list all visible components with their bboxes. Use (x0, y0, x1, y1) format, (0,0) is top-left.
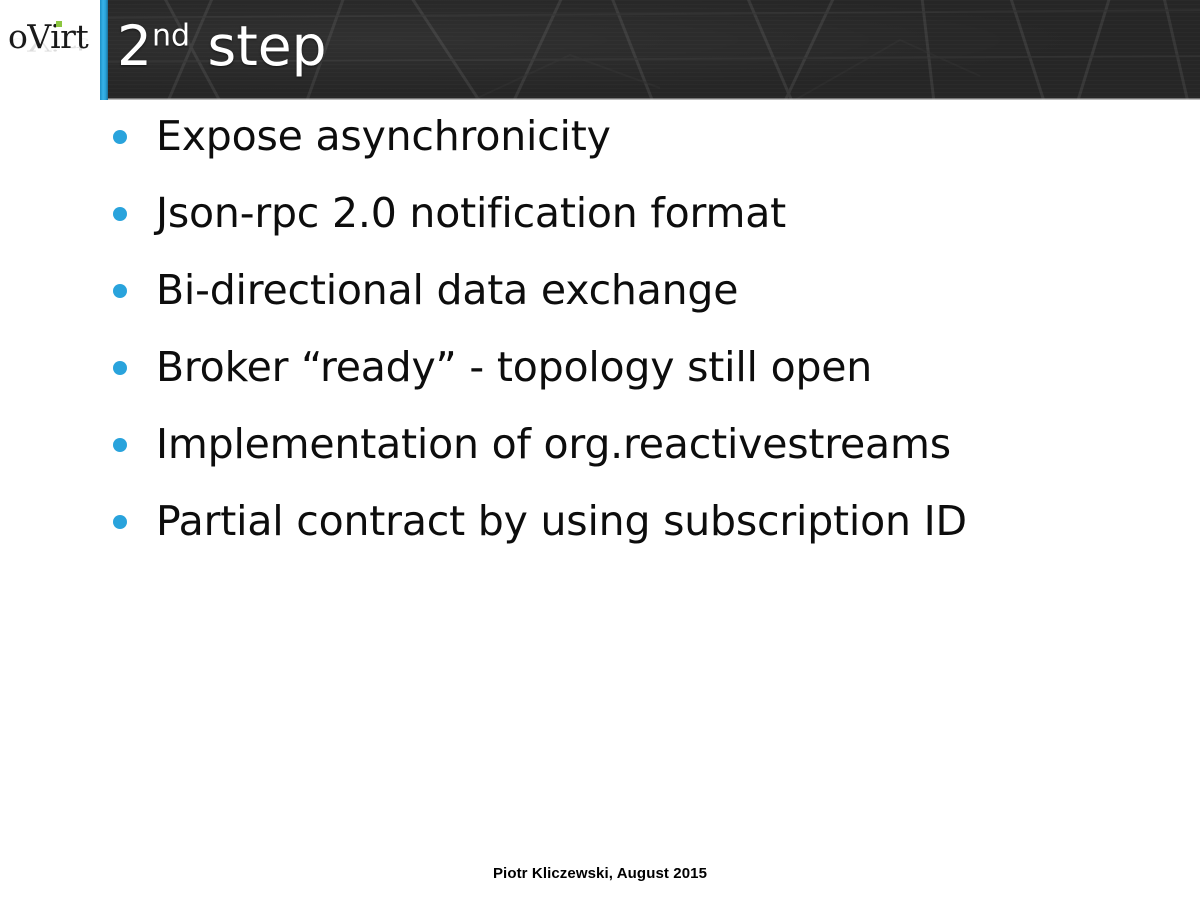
list-item: Expose asynchronicity (113, 108, 1183, 185)
bullet-text: Partial contract by using subscription I… (156, 493, 1183, 549)
slide-title-rest: step (190, 14, 326, 78)
bullet-text: Bi-directional data exchange (156, 262, 1183, 318)
header-accent-bar (100, 0, 108, 100)
bullet-text: Json-rpc 2.0 notification format (156, 185, 1183, 241)
list-item: Bi-directional data exchange (113, 262, 1183, 339)
bullet-dot-icon (113, 361, 127, 375)
bullet-dot-icon (113, 284, 127, 298)
ovirt-logo-reflection: oVirt (8, 34, 88, 55)
bullet-dot-icon (113, 207, 127, 221)
bullet-dot-icon (113, 438, 127, 452)
slide-title-number: 2 (117, 14, 152, 78)
ovirt-logo: oVirt oVirt (8, 18, 96, 88)
list-item: Implementation of org.reactivestreams (113, 416, 1183, 493)
list-item: Json-rpc 2.0 notification format (113, 185, 1183, 262)
bullet-dot-icon (113, 515, 127, 529)
slide-footer: Piotr Kliczewski, August 2015 (0, 865, 1200, 882)
slide-title-ordinal-suffix: nd (152, 19, 190, 54)
bullet-dot-icon (113, 130, 127, 144)
bullet-text: Broker “ready” - topology still open (156, 339, 1183, 395)
header-bottom-edge (100, 98, 1200, 100)
presentation-slide: 2nd step oVirt oVirt Expose asynchronici… (0, 0, 1200, 900)
list-item: Partial contract by using subscription I… (113, 493, 1183, 570)
ovirt-logo-green-dot-icon (56, 21, 62, 27)
bullet-text: Implementation of org.reactivestreams (156, 416, 1183, 472)
bullet-text: Expose asynchronicity (156, 108, 1183, 164)
bullet-list: Expose asynchronicity Json-rpc 2.0 notif… (113, 108, 1183, 570)
list-item: Broker “ready” - topology still open (113, 339, 1183, 416)
slide-title: 2nd step (117, 13, 327, 79)
